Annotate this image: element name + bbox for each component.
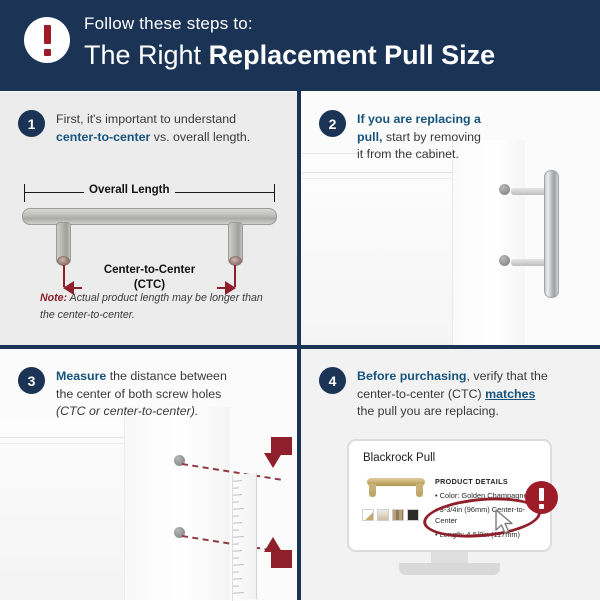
- product-details-heading: PRODUCT DETAILS: [435, 477, 508, 486]
- step-4-heading: 4 Before purchasing, verify that the cen…: [319, 367, 587, 421]
- product-image: [365, 475, 427, 501]
- step-3-text: Measure the distance between the center …: [56, 367, 227, 421]
- monitor-illustration: Blackrock Pull PRODUCT DETAILS • Color: …: [347, 439, 552, 574]
- step-1-line2: vs. overall length.: [150, 130, 250, 144]
- measure-arrow-bottom-stem: [271, 550, 292, 568]
- step-1-heading: 1 First, it's important to understand ce…: [18, 110, 280, 146]
- screw-hole-top-2: [499, 184, 510, 195]
- step-1-note: Note: Actual product length may be longe…: [40, 290, 265, 324]
- title-light: The Right: [84, 40, 209, 70]
- note-prefix: Note:: [40, 292, 67, 304]
- step-1-text: First, it's important to understand cent…: [56, 110, 250, 146]
- door-groove-inner-3: [0, 443, 126, 600]
- header-kicker: Follow these steps to:: [84, 14, 495, 34]
- step-4-link: matches: [485, 387, 535, 401]
- infographic-root: Follow these steps to: The Right Replace…: [0, 0, 600, 600]
- step-3-line2: the center of both screw holes: [56, 387, 221, 401]
- product-title: Blackrock Pull: [363, 452, 435, 464]
- swatch-2[interactable]: [377, 509, 389, 521]
- step-3-line1: the distance between: [106, 369, 227, 383]
- header-text-block: Follow these steps to: The Right Replace…: [84, 14, 495, 72]
- swatch-3[interactable]: [392, 509, 404, 521]
- measure-arrow-top: [264, 453, 282, 468]
- step-1-badge: 1: [18, 110, 45, 137]
- step-2-emphasis-1: If you are replacing a: [357, 112, 481, 126]
- finish-swatches[interactable]: [362, 509, 419, 521]
- screw-hole-bottom-2: [499, 255, 510, 266]
- step-2-panel: 2 If you are replacing a pull, start by …: [301, 92, 600, 345]
- step-4-text: Before purchasing, verify that the cente…: [357, 367, 548, 421]
- alert-exclamation-icon: [525, 481, 558, 514]
- step-3-line3: (CTC or center-to-center).: [56, 404, 198, 418]
- product-page-screen: Blackrock Pull PRODUCT DETAILS • Color: …: [347, 439, 552, 552]
- swatch-4[interactable]: [407, 509, 419, 521]
- step-1-panel: 1 First, it's important to understand ce…: [0, 92, 297, 345]
- cabinet-face-2: [453, 140, 525, 345]
- step-4-line2: center-to-center (CTC): [357, 387, 485, 401]
- page-title: The Right Replacement Pull Size: [84, 39, 495, 71]
- title-bold: Replacement Pull Size: [209, 40, 496, 70]
- header-banner: Follow these steps to: The Right Replace…: [0, 0, 600, 90]
- step-3-emphasis: Measure: [56, 369, 106, 383]
- ctc-label: Center-to-Center: [22, 264, 277, 276]
- step-2-line3: it from the cabinet.: [357, 147, 459, 161]
- exclamation-icon: [24, 17, 70, 63]
- step-4-panel: 4 Before purchasing, verify that the cen…: [301, 349, 600, 600]
- door-panel-groove-inner: [301, 178, 460, 345]
- mouse-pointer-icon: [495, 509, 517, 535]
- measure-arrow-bottom: [264, 537, 282, 552]
- step-2-emphasis-2: pull,: [357, 130, 382, 144]
- step-4-line3: the pull you are replacing.: [357, 404, 499, 418]
- monitor-stand-base: [399, 563, 500, 575]
- swatch-1[interactable]: [362, 509, 374, 521]
- step-4-badge: 4: [319, 367, 346, 394]
- ruler-icon: [232, 473, 257, 601]
- step-2-text: If you are replacing a pull, start by re…: [357, 110, 481, 164]
- note-text: Actual product length may be longer than…: [40, 292, 263, 321]
- step-2-heading: 2 If you are replacing a pull, start by …: [319, 110, 569, 164]
- step-2-badge: 2: [319, 110, 346, 137]
- overall-tick-left: [24, 184, 25, 202]
- step-4-line1: , verify that the: [466, 369, 547, 383]
- step-1-emphasis: center-to-center: [56, 130, 150, 144]
- horizontal-divider: [0, 345, 600, 349]
- cabinet-face-3: [125, 407, 230, 600]
- step-2-line2: start by removing: [382, 130, 480, 144]
- step-3-badge: 3: [18, 367, 45, 394]
- step-3-heading: 3 Measure the distance between the cente…: [18, 367, 280, 421]
- step-1-line1: First, it's important to understand: [56, 112, 236, 126]
- bar-pull-2: [544, 170, 559, 298]
- overall-length-label: Overall Length: [84, 184, 175, 196]
- step-4-emphasis: Before purchasing: [357, 369, 466, 383]
- overall-tick-right: [274, 184, 275, 202]
